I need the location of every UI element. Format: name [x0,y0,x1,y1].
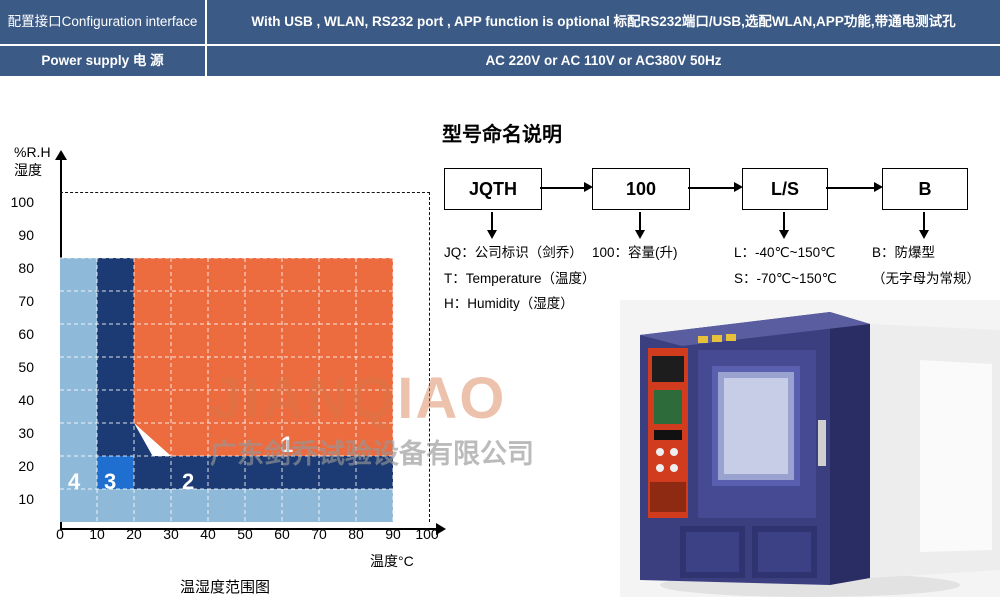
model-naming-flow: JQTH 100 L/S B [442,168,1000,212]
spec-label-power-supply: Power supply 电 源 [0,46,205,78]
naming-legend-column-1: JQ：公司标识（剑乔） T：Temperature（温度） H：Humidity… [444,240,596,317]
naming-legend-column-3: L：-40℃~150℃ S：-70℃~150℃ [734,240,837,291]
arrow-down-icon [635,230,645,239]
chart-ytick-100: 100 [0,194,34,210]
drop-line-1 [491,212,493,232]
chart-xtick-50: 50 [230,526,260,542]
spec-value-configuration-interface: With USB , WLAN, RS232 port , APP functi… [205,0,1000,46]
table-row: Power supply 电 源 AC 220V or AC 110V or A… [0,46,1000,78]
legend-item: B：防爆型 [872,240,980,266]
chart-x-axis-label: 温度°C [370,551,414,571]
arrow-right-icon [584,182,593,192]
chart-zone-label-3: 3 [104,469,116,495]
chart-ytick-90: 90 [0,227,34,243]
product-photo [620,300,1000,597]
spec-value-power-supply: AC 220V or AC 110V or AC380V 50Hz [205,46,1000,78]
chart-ytick-20: 20 [0,458,34,474]
legend-item: H：Humidity（湿度） [444,291,596,317]
legend-item: JQ：公司标识（剑乔） [444,240,596,266]
chart-y-axis-label: %R.H 湿度 [14,144,51,179]
arrow-right-icon [874,182,883,192]
table-row: 配置接口Configuration interface With USB , W… [0,0,1000,46]
model-suffix-box: B [882,168,968,210]
drop-line-3 [783,212,785,232]
model-temp-range-box: L/S [742,168,828,210]
connector-line-3 [826,187,878,189]
chart-zone-label-1: 1 [281,432,293,458]
naming-legend-column-2: 100：容量(升) [592,240,678,266]
chart-y-axis-label-line1: %R.H [14,144,51,162]
product-photo-illustration [620,300,1000,597]
chart-zone-label-4: 4 [68,469,80,495]
chart-xtick-40: 40 [193,526,223,542]
chart-ytick-60: 60 [0,326,34,342]
chart-xtick-100: 100 [412,526,442,542]
chart-xtick-60: 60 [267,526,297,542]
connector-line-2 [688,187,738,189]
legend-item: L：-40℃~150℃ [734,240,837,266]
chart-ytick-40: 40 [0,392,34,408]
chart-zone-label-2: 2 [182,469,194,495]
temperature-humidity-chart: %R.H 湿度 温度°C 100 90 80 70 60 50 40 30 20… [0,110,470,597]
naming-legend-column-4: B：防爆型 （无字母为常规） [872,240,980,291]
model-prefix-box: JQTH [444,168,542,210]
chart-xtick-70: 70 [304,526,334,542]
section-title: 型号命名说明 [442,118,562,147]
chart-xtick-20: 20 [119,526,149,542]
drop-line-4 [923,212,925,232]
chart-ytick-10: 10 [0,491,34,507]
legend-item: 100：容量(升) [592,240,678,266]
chart-ytick-30: 30 [0,425,34,441]
chart-caption: 温湿度范围图 [180,576,270,597]
spec-label-configuration-interface: 配置接口Configuration interface [0,0,205,46]
model-capacity-box: 100 [592,168,690,210]
chart-ytick-80: 80 [0,260,34,276]
chart-xtick-80: 80 [341,526,371,542]
model-naming-section: 型号命名说明 JQTH 100 L/S B JQ：公司标识（剑乔） T：Temp… [442,110,1000,330]
legend-item: （无字母为常规） [872,266,980,292]
arrow-down-icon [779,230,789,239]
chart-xtick-0: 0 [45,526,75,542]
chart-ytick-50: 50 [0,359,34,375]
arrow-right-icon [734,182,743,192]
arrow-down-icon [919,230,929,239]
chart-plot-area: 1 2 3 4 [60,192,430,522]
legend-item: S：-70℃~150℃ [734,266,837,292]
chart-xtick-10: 10 [82,526,112,542]
chart-xtick-90: 90 [378,526,408,542]
drop-line-2 [639,212,641,232]
chart-ytick-70: 70 [0,293,34,309]
chart-y-axis-arrow-icon [55,150,67,160]
connector-line-1 [540,187,588,189]
spec-table: 配置接口Configuration interface With USB , W… [0,0,1000,78]
arrow-down-icon [487,230,497,239]
legend-item: T：Temperature（温度） [444,266,596,292]
chart-y-axis-label-line2: 湿度 [14,162,51,180]
chart-xtick-30: 30 [156,526,186,542]
